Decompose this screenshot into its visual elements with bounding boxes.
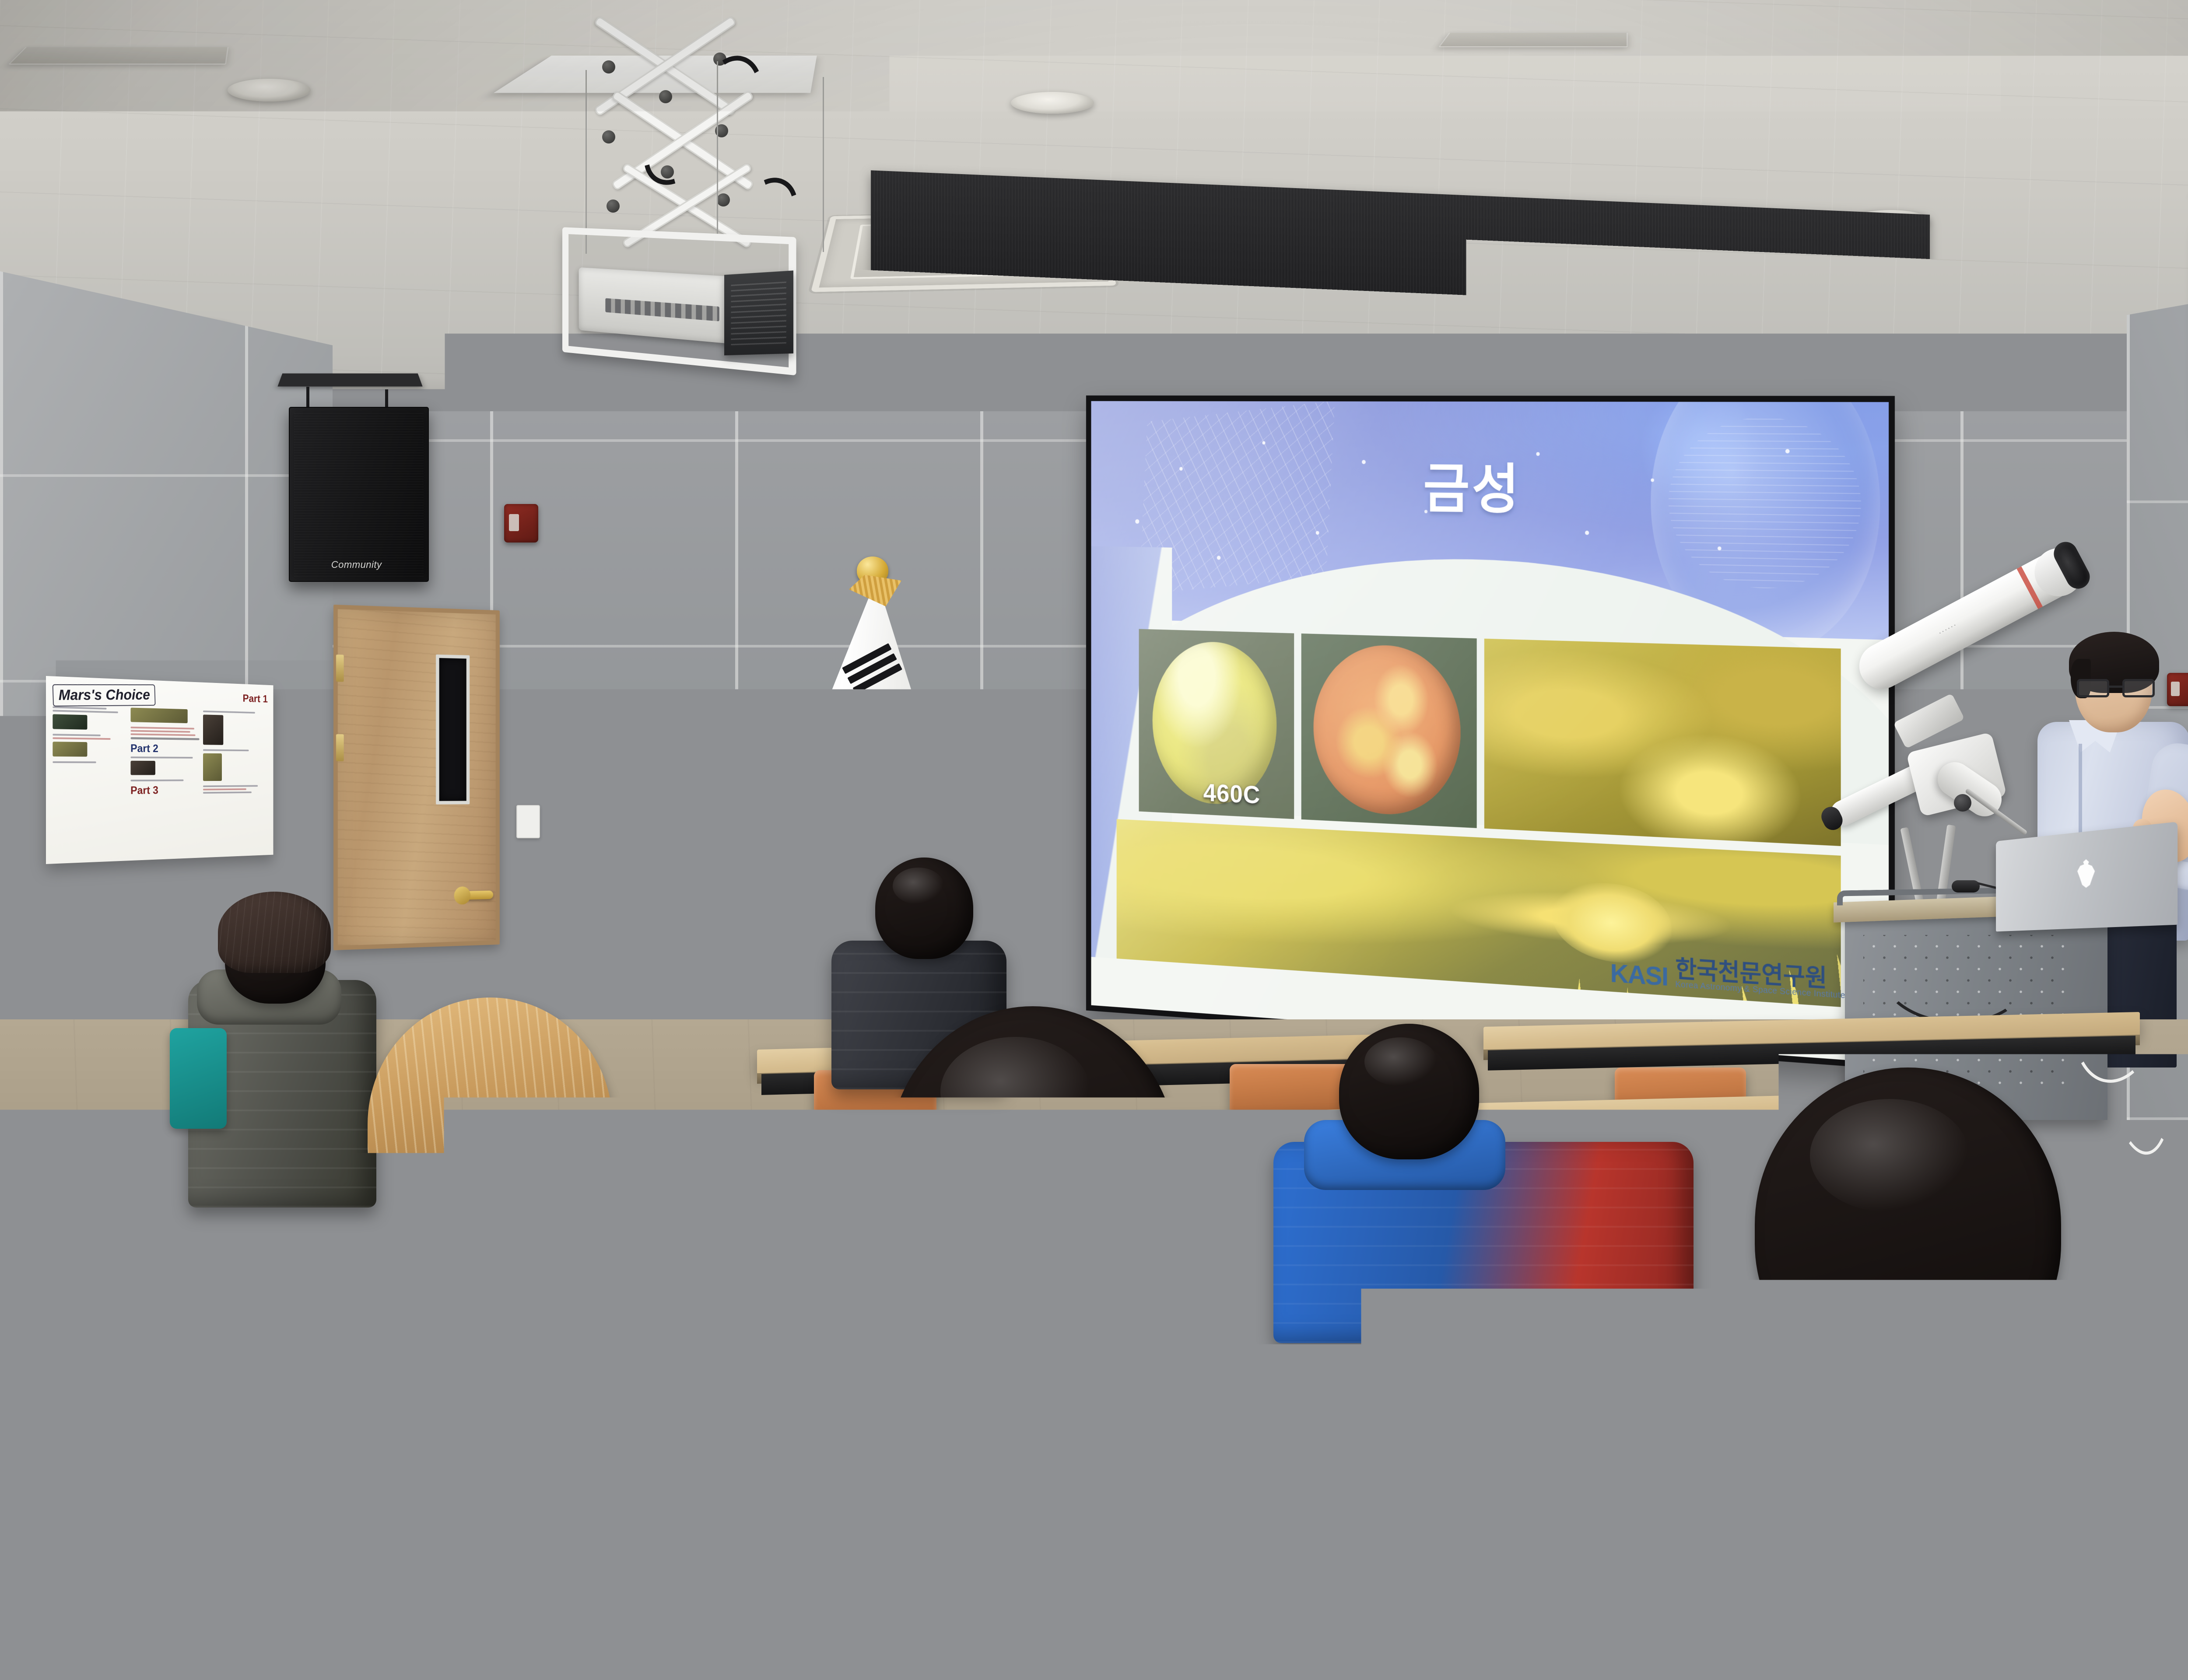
glasses-icon xyxy=(2077,679,2155,697)
thumbnail-venus-surface xyxy=(1484,639,1841,846)
temperature-label: 460C xyxy=(1203,778,1260,810)
scissor-pivot xyxy=(602,60,615,73)
audience-member-blonde-fur xyxy=(232,989,757,1610)
telescope-brand-text: ······ xyxy=(1937,620,1959,637)
ceiling-projector xyxy=(521,26,853,424)
blonde-hair xyxy=(368,997,613,1251)
trigram-geon xyxy=(842,643,903,696)
ceiling-downlight xyxy=(228,79,311,101)
scissor-pivot xyxy=(607,199,620,213)
scissor-pivot xyxy=(659,90,672,103)
finder-eyepiece xyxy=(1818,804,1846,833)
mount-adjust-knob[interactable] xyxy=(1954,794,1971,812)
thumbnail-venus-clouds: 460C xyxy=(1139,629,1294,819)
knit-beanie xyxy=(218,892,331,973)
telescope-tube-rings xyxy=(1893,693,1965,749)
projector-cage xyxy=(562,227,796,375)
ceiling-vent xyxy=(8,46,229,64)
door-window xyxy=(436,654,470,805)
door-handle[interactable] xyxy=(459,890,493,899)
lift-safety-wire xyxy=(823,77,824,252)
ceiling-vent xyxy=(1438,32,1628,47)
ceiling-downlight xyxy=(1120,354,1197,374)
door-hinge xyxy=(336,654,344,682)
student-poster: Mars's Choice Part 1 Part 2 xyxy=(46,676,273,864)
speaker-bracket xyxy=(277,374,422,387)
presentation-slide: 금성 460C KASI xyxy=(1091,401,1889,1063)
wall-outlet[interactable] xyxy=(516,805,540,838)
audience-member-navy-right xyxy=(1593,1067,2188,1680)
speaker-brand-label: Community xyxy=(331,559,382,570)
wall-speaker-left: Community xyxy=(289,407,429,582)
projector-lens-housing xyxy=(724,270,793,355)
classroom-photo: Community Community xyxy=(0,0,2188,1680)
dark-jacket xyxy=(0,1199,166,1479)
trigram-ri xyxy=(801,809,831,851)
audience-head xyxy=(888,1006,1177,1312)
audience-head xyxy=(875,857,973,959)
lift-safety-wire xyxy=(586,70,587,254)
slide-thumbnail-row: 460C xyxy=(1139,629,1841,846)
poster-section-label: Part 2 xyxy=(130,742,200,755)
laptop[interactable] xyxy=(1987,832,2175,928)
ceiling-downlight xyxy=(1011,92,1094,114)
kasi-logo-mark: KASI xyxy=(1610,962,1668,989)
backpack xyxy=(170,1028,227,1129)
projection-screen: 금성 460C KASI xyxy=(1086,395,1895,1070)
audience-member-navy-center xyxy=(753,997,1322,1654)
projector-ports xyxy=(606,298,719,322)
thumbnail-venus-radar-globe xyxy=(1301,633,1476,828)
venus-surface-radar xyxy=(1484,639,1841,846)
poster-title: Mars's Choice xyxy=(53,684,156,707)
venus-radar-globe xyxy=(1313,643,1460,818)
audience-head xyxy=(1755,1067,2061,1382)
slide-title: 금성 xyxy=(1091,443,1889,529)
audience-member-left-edge xyxy=(0,1085,175,1479)
scissor-pivot xyxy=(717,193,730,206)
poster-section-label: Part 3 xyxy=(130,784,200,797)
fire-alarm-icon xyxy=(504,504,538,542)
audience-head xyxy=(1339,1024,1479,1159)
door-hinge xyxy=(336,734,344,761)
audience-head xyxy=(0,1098,127,1242)
scissor-pivot xyxy=(602,130,615,143)
poster-section-label: Part 1 xyxy=(243,692,268,705)
